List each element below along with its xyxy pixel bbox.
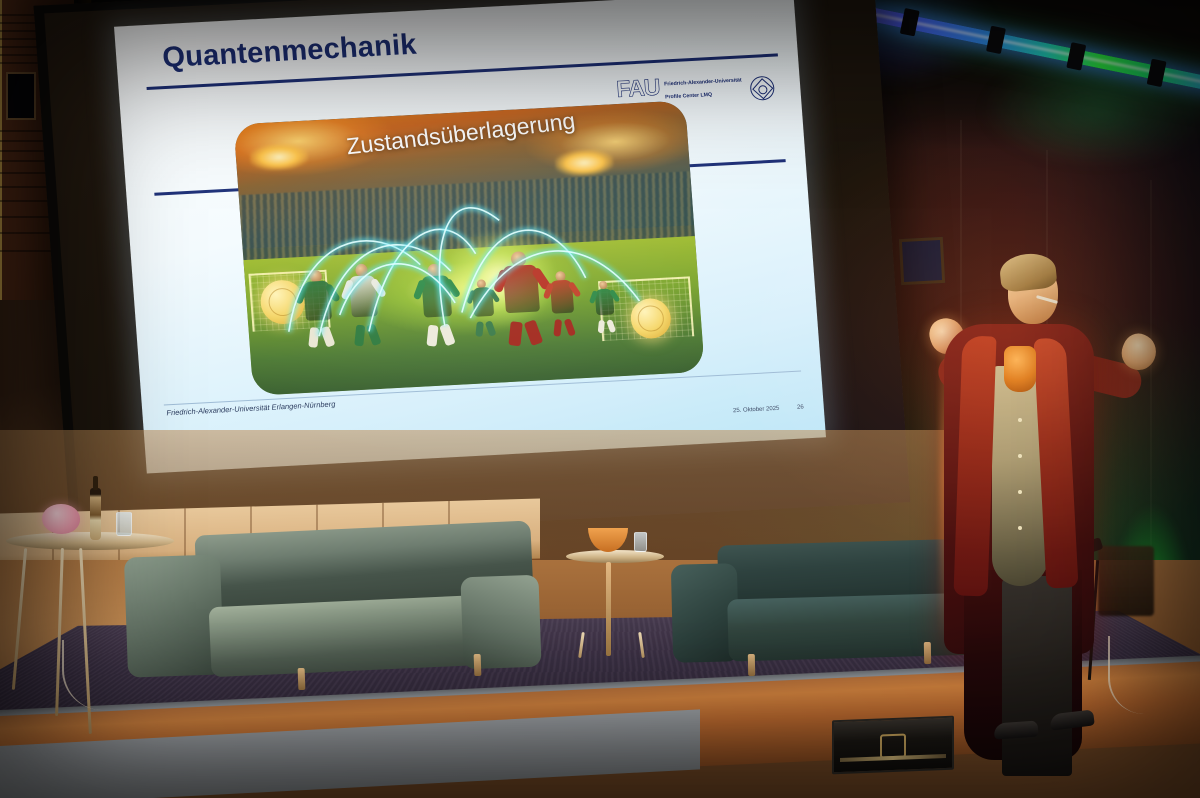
presenter [900,240,1170,760]
stage-photo: Quantenmechanik FAU Friedrich-Alexander-… [0,0,1200,798]
presenter-hair [998,251,1057,293]
quantum-arc-5-glow [456,227,588,312]
slide-meta: 25. Oktober 2025 26 [733,404,804,414]
slide-title: Quantenmechanik [161,29,418,75]
drinking-glass-center [634,532,647,552]
quantum-arc-6-glow [466,247,640,318]
projected-slide: Quantenmechanik FAU Friedrich-Alexander-… [114,0,826,473]
pink-balloon [42,504,80,534]
presenter-shoe-left [993,720,1038,739]
water-bottle [90,488,101,540]
slide-page-number: 26 [797,404,804,410]
presenter-cravat [1004,346,1036,392]
fau-seal-icon [749,76,775,101]
slide-illustration: Zustandsüberlagerung [233,100,704,395]
sofa-left [126,528,536,698]
orange-bowl [588,528,628,552]
side-table-center [566,528,666,648]
slide-date: 25. Oktober 2025 [733,406,780,414]
equipment-case [832,716,954,775]
wall-vent-icon [6,72,36,120]
presenter-trousers [1002,576,1072,776]
fau-subtitle-line1: Friedrich-Alexander-Universität [664,77,742,88]
fau-wordmark: FAU [616,76,661,101]
